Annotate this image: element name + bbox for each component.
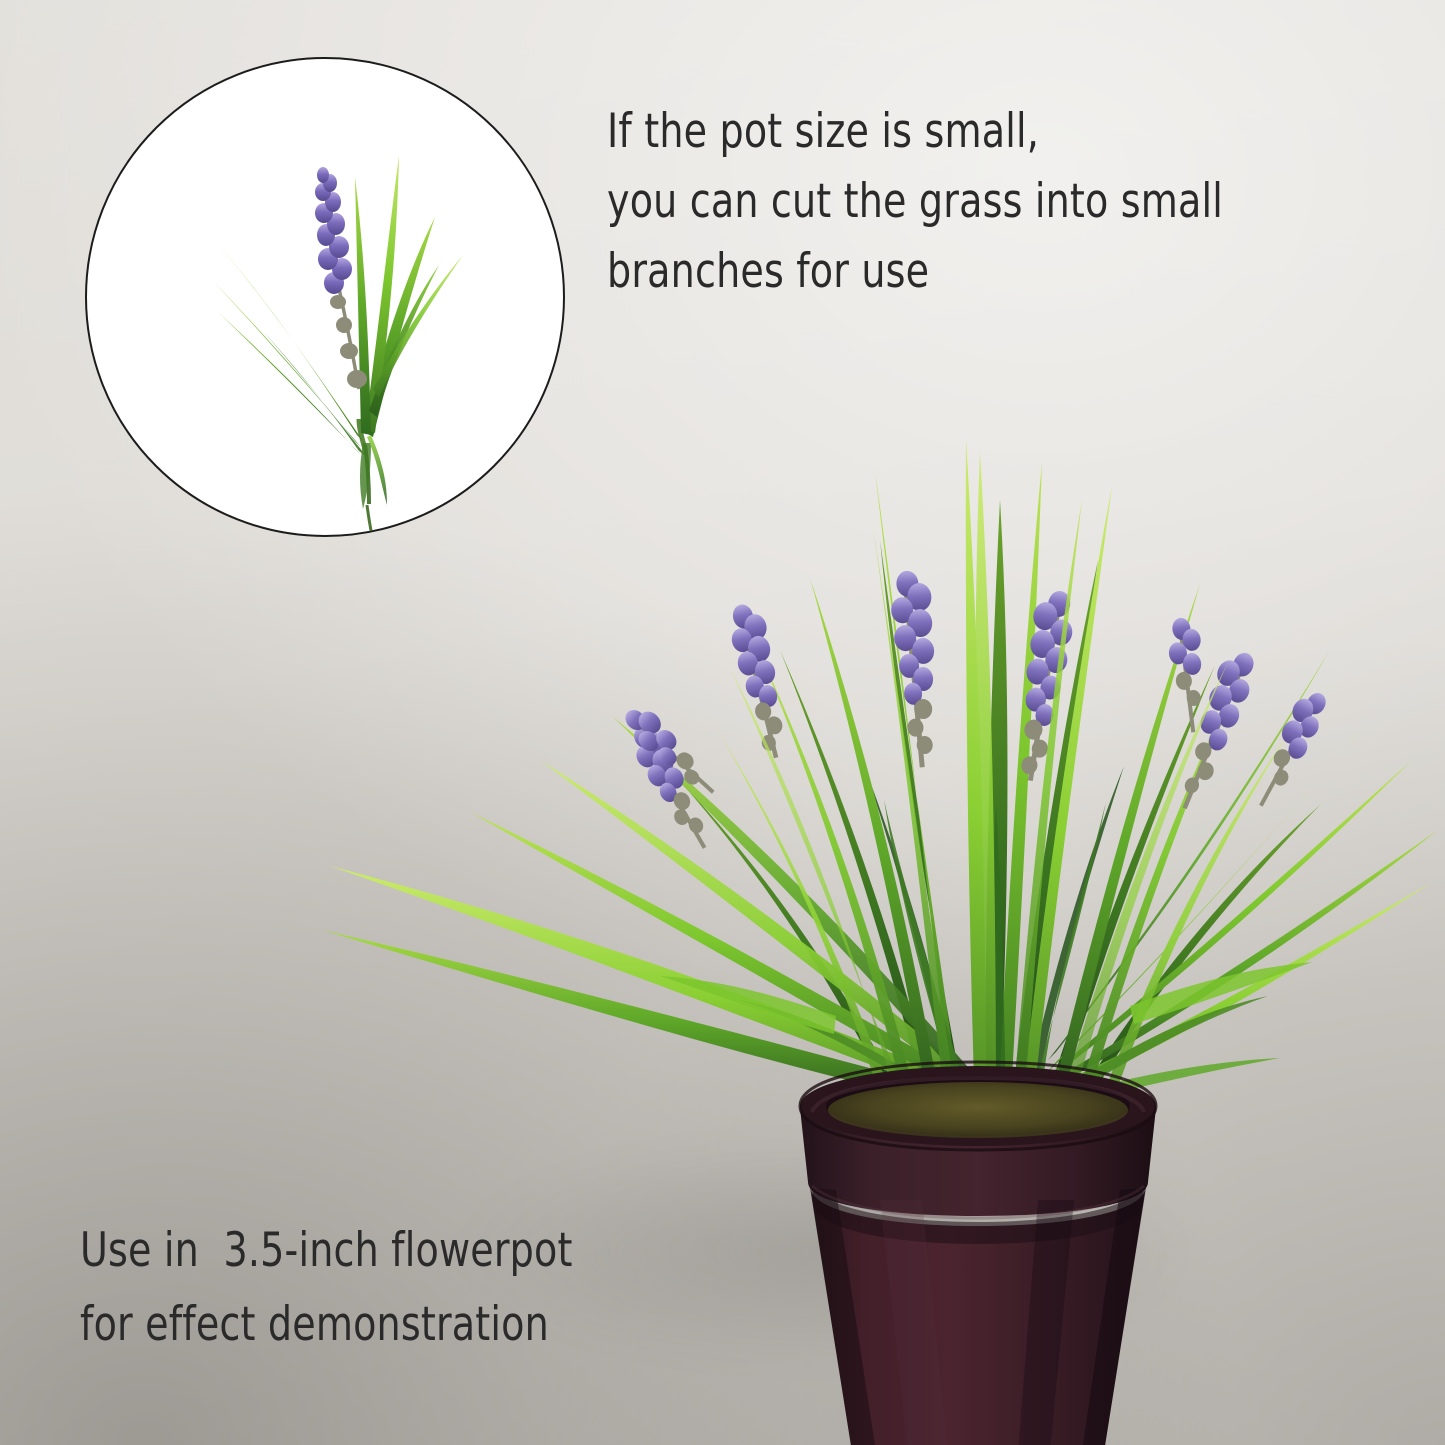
lavender-spike bbox=[725, 600, 794, 761]
inset-grass-sprig bbox=[213, 155, 463, 537]
grass-sprig-inset bbox=[85, 57, 565, 537]
lavender-spike bbox=[1170, 646, 1262, 816]
caption-bottom-line-2: for effect demonstration bbox=[80, 1297, 549, 1352]
inset-illustration bbox=[87, 59, 565, 537]
lavender-spike bbox=[1248, 685, 1332, 813]
caption-top-line-2: you can cut the grass into small bbox=[607, 174, 1223, 229]
product-image-canvas: If the pot size is small, you can cut th… bbox=[0, 0, 1445, 1445]
caption-bottom: Use in 3.5-inch flowerpot for effect dem… bbox=[80, 1214, 573, 1362]
caption-top: If the pot size is small, you can cut th… bbox=[607, 97, 1223, 307]
caption-top-line-1: If the pot size is small, bbox=[607, 104, 1039, 159]
inset-lavender-spike bbox=[315, 167, 352, 294]
caption-top-line-3: branches for use bbox=[607, 244, 929, 299]
caption-bottom-line-1: Use in 3.5-inch flowerpot bbox=[80, 1223, 573, 1278]
flowerpot bbox=[800, 1062, 1156, 1445]
